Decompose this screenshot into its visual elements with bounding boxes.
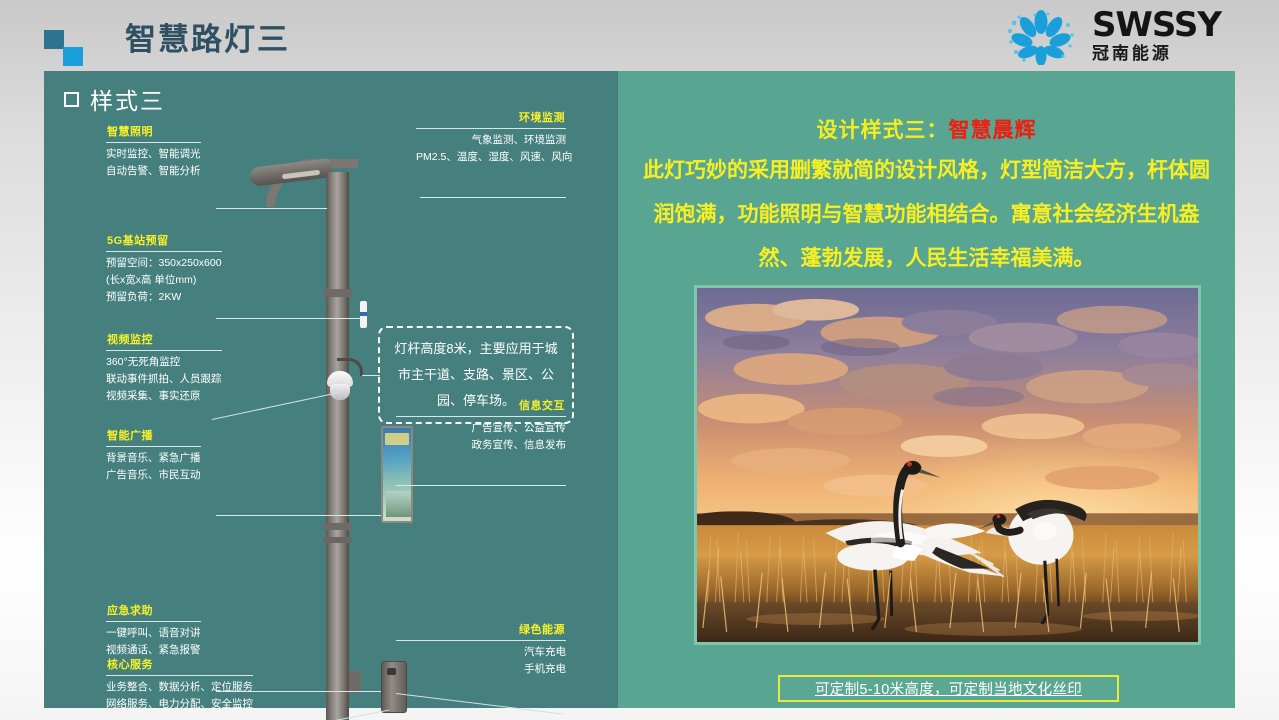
callout-line: 预留负荷：2KW [106, 289, 222, 306]
callout-line: PM2.5、温度、湿度、风速、风向 [416, 149, 566, 166]
leader-line-lighting [216, 208, 327, 209]
callout-green-energy: 绿色能源 汽车充电 手机充电 [396, 620, 566, 678]
callout-underline [106, 142, 201, 143]
crane-sunset-photo [697, 288, 1198, 644]
callout-line: 背景音乐、紧急广播 [106, 450, 201, 467]
lamp-pole [326, 172, 349, 720]
callout-underline [106, 446, 201, 447]
caption-text: 可定制5-10米高度，可定制当地文化丝印 [815, 678, 1082, 699]
callout-line: 业务整合、数据分析、定位服务 [106, 679, 253, 696]
leader-line-environment [420, 197, 566, 198]
callout-title: 智慧照明 [106, 123, 154, 139]
callout-title: 环境监测 [518, 109, 566, 125]
callout-underline [106, 675, 253, 676]
application-note-box: 灯杆高度8米，主要应用于城市主干道、支路、景区、公园、停车场。 [378, 326, 574, 424]
page-header: 智慧路灯三 [0, 0, 1279, 72]
callout-core-service: 核心服务 业务整合、数据分析、定位服务 网络服务、电力分配、安全监控 [106, 655, 253, 713]
callout-5g-base-station: 5G基站预留 预留空间：350x250x600 (长x宽x高 单位mm) 预留负… [106, 231, 222, 306]
design-title-prefix: 设计样式三： [817, 119, 949, 142]
caption-box: 可定制5-10米高度，可定制当地文化丝印 [778, 675, 1119, 702]
callout-line: 360°无死角监控 [106, 354, 222, 371]
petal-flower-icon [1002, 9, 1080, 65]
callout-underline [416, 128, 566, 129]
design-title: 设计样式三：智慧晨辉 [618, 114, 1235, 144]
camera-body [330, 384, 350, 400]
callout-line: 预留空间：350x250x600 [106, 255, 222, 272]
callout-title: 核心服务 [106, 656, 154, 672]
callout-line: 政务宣传、信息发布 [396, 437, 566, 454]
square-light-icon [63, 47, 83, 66]
callout-line: 实时监控、智能调光 [106, 146, 201, 163]
left-diagram-panel: 样式三 智慧照明 实时监控、智能调光 自动告警、智能分析 [44, 71, 618, 708]
5g-antenna-indicator [360, 312, 367, 316]
brand-subtitle: 冠南能源 [1092, 43, 1172, 65]
emergency-call-button-icon [387, 668, 396, 675]
callout-line: 广告音乐、市民互动 [106, 467, 201, 484]
callout-underline [106, 621, 201, 622]
callout-smart-lighting: 智慧照明 实时监控、智能调光 自动告警、智能分析 [106, 122, 201, 180]
page-title: 智慧路灯三 [125, 21, 290, 59]
callout-title: 绿色能源 [518, 621, 566, 637]
callout-title: 应急求助 [106, 602, 154, 618]
design-description: 此灯巧妙的采用删繁就简的设计风格，灯型简洁大方，杆体圆润饱满，功能照明与智慧功能… [640, 149, 1213, 281]
pole-joint-upper [323, 289, 352, 297]
callout-line: 汽车充电 [396, 644, 566, 661]
callout-smart-broadcast: 智能广播 背景音乐、紧急广播 广告音乐、市民互动 [106, 426, 201, 484]
charging-port [349, 671, 361, 693]
callout-underline [396, 640, 566, 641]
callout-line: 一键呼叫、语音对讲 [106, 625, 201, 642]
callout-title: 智能广播 [106, 427, 154, 443]
callout-line: 网络服务、电力分配、安全监控 [106, 696, 253, 713]
callout-underline [106, 350, 222, 351]
brand-text: SWSSY 冠南能源 [1092, 9, 1221, 65]
callout-line: (长x宽x高 单位mm) [106, 272, 222, 289]
callout-title: 5G基站预留 [106, 232, 170, 248]
pole-joint-lower2 [323, 537, 352, 543]
pole-joint-lower [323, 523, 352, 530]
design-title-name: 智慧晨辉 [949, 119, 1037, 142]
callout-emergency-help: 应急求助 一键呼叫、语音对讲 视频通话、紧急报警 [106, 601, 201, 659]
brand-logo: SWSSY 冠南能源 [1002, 8, 1221, 66]
callout-title: 视频监控 [106, 331, 154, 347]
brand-name: SWSSY [1092, 9, 1221, 41]
leader-line-5g [216, 318, 361, 319]
callout-underline [106, 251, 222, 252]
application-note-text: 灯杆高度8米，主要应用于城市主干道、支路、景区、公园、停车场。 [380, 336, 572, 414]
square-dark-icon [44, 30, 64, 49]
callout-line: 手机充电 [396, 661, 566, 678]
leader-line-broadcast [216, 515, 381, 516]
callout-environment-monitor: 环境监测 气象监测、环境监测 PM2.5、温度、湿度、风速、风向 [416, 108, 566, 166]
callout-line: 联动事件抓拍、人员跟踪 [106, 371, 222, 388]
decorative-squares-logo [44, 30, 86, 66]
callout-line: 气象监测、环境监测 [416, 132, 566, 149]
callout-line: 视频采集、事实还原 [106, 388, 222, 405]
callout-line: 自动告警、智能分析 [106, 163, 201, 180]
leader-line-info [396, 485, 566, 486]
crane-photo-frame [694, 285, 1201, 645]
callout-video-surveillance: 视频监控 360°无死角监控 联动事件抓拍、人员跟踪 视频采集、事实还原 [106, 330, 222, 405]
